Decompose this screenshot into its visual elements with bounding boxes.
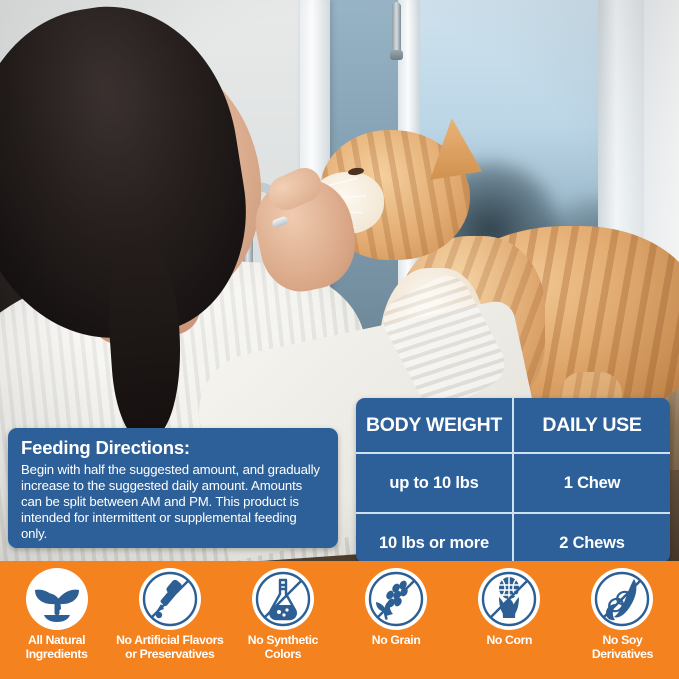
feeding-directions-panel: Feeding Directions: Begin with half the …	[8, 428, 338, 548]
table-row: 10 lbs or more 2 Chews	[356, 513, 670, 563]
no-flask-icon	[252, 568, 314, 630]
cell-body-weight: 10 lbs or more	[356, 513, 513, 563]
claim-label-line2: or Preservatives	[125, 647, 214, 661]
claim-label-line1: All Natural	[28, 633, 85, 647]
claim-label: No Corn	[453, 634, 565, 648]
claim-label-line2: Colors	[265, 647, 302, 661]
no-corn-icon	[478, 568, 540, 630]
no-grain-icon	[365, 568, 427, 630]
claim-no-corn: No Corn	[453, 561, 566, 648]
cell-body-weight: up to 10 lbs	[356, 453, 513, 513]
claims-bar: All Natural Ingredients No	[0, 561, 679, 679]
column-header-daily-use: DAILY USE	[513, 398, 670, 453]
claim-label: No Grain	[340, 634, 452, 648]
feeding-directions-body: Begin with half the suggested amount, an…	[21, 462, 325, 542]
dosage-table-panel: BODY WEIGHT DAILY USE up to 10 lbs 1 Che…	[356, 398, 670, 563]
claim-label-line1: No Artificial Flavors	[116, 633, 223, 647]
table-header-row: BODY WEIGHT DAILY USE	[356, 398, 670, 453]
table-row: up to 10 lbs 1 Chew	[356, 453, 670, 513]
claim-label-line1: No Corn	[486, 633, 532, 647]
claim-label-line2: Derivatives	[592, 647, 653, 661]
feeding-directions-heading: Feeding Directions:	[21, 438, 325, 457]
sprout-icon	[26, 568, 88, 630]
cell-daily-use: 2 Chews	[513, 513, 670, 563]
claim-no-grain: No Grain	[340, 561, 453, 648]
claim-no-synthetic-colors: No Synthetic Colors	[226, 561, 339, 661]
cell-daily-use: 1 Chew	[513, 453, 670, 513]
no-dropper-icon	[139, 568, 201, 630]
claim-label-line2: Ingredients	[26, 647, 88, 661]
column-header-body-weight: BODY WEIGHT	[356, 398, 513, 453]
claim-label-line1: No Synthetic	[248, 633, 318, 647]
claim-no-artificial-flavors: No Artificial Flavors or Preservatives	[113, 561, 226, 661]
product-infographic: Feeding Directions: Begin with half the …	[0, 0, 679, 679]
claim-label: No Soy Derivatives	[566, 634, 678, 661]
claim-label: All Natural Ingredients	[1, 634, 113, 661]
claim-label: No Artificial Flavors or Preservatives	[114, 634, 226, 661]
claim-label: No Synthetic Colors	[227, 634, 339, 661]
claim-label-line1: No Grain	[372, 633, 421, 647]
dosage-table: BODY WEIGHT DAILY USE up to 10 lbs 1 Che…	[356, 398, 670, 563]
claim-label-line1: No Soy	[602, 633, 642, 647]
no-soy-icon	[591, 568, 653, 630]
claim-all-natural-ingredients: All Natural Ingredients	[0, 561, 113, 661]
claim-no-soy-derivatives: No Soy Derivatives	[566, 561, 679, 661]
